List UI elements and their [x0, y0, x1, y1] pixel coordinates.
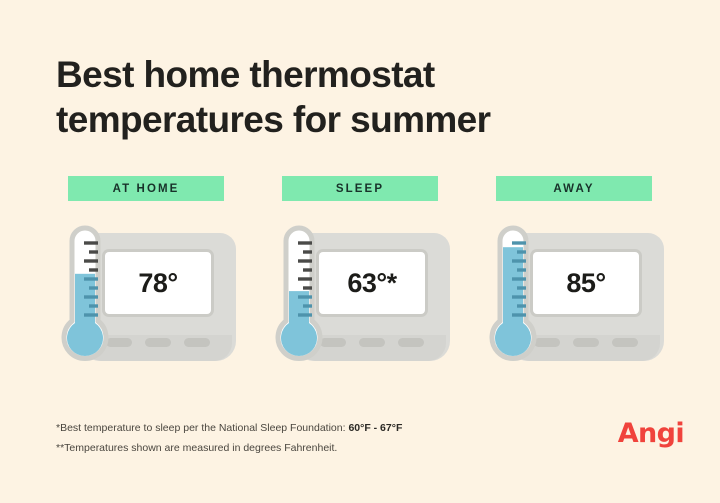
- thermometer-icon: [56, 225, 114, 373]
- temperature-value: 63°*: [347, 270, 396, 297]
- footnote-units: **Temperatures shown are measured in deg…: [56, 438, 556, 458]
- thermostat-buttons: [106, 338, 210, 347]
- thermostat-buttons: [320, 338, 424, 347]
- thermostat-unit-at-home: 78°: [48, 225, 244, 373]
- thermostat-unit-away: 85°: [476, 225, 672, 373]
- temperature-value: 85°: [566, 270, 605, 297]
- column-at-home: AT HOME 78°: [48, 176, 244, 373]
- thermostat-screen: 85°: [533, 252, 639, 314]
- angi-logo[interactable]: Angi: [618, 420, 684, 447]
- thermostat-button-3[interactable]: [612, 338, 638, 347]
- thermostat-buttons: [534, 338, 638, 347]
- thermostat-columns: AT HOME 78°: [48, 176, 672, 373]
- thermostat-button-2[interactable]: [359, 338, 385, 347]
- column-away: AWAY 85°: [476, 176, 672, 373]
- thermostat-screen-frame: 85°: [530, 249, 642, 317]
- thermostat-unit-sleep: 63°*: [262, 225, 458, 373]
- badge-sleep: SLEEP: [282, 176, 438, 201]
- footnote-sleep-text: *Best temperature to sleep per the Natio…: [56, 422, 346, 434]
- footnotes: *Best temperature to sleep per the Natio…: [56, 418, 556, 459]
- thermostat-button-2[interactable]: [573, 338, 599, 347]
- column-sleep: SLEEP 63°*: [262, 176, 458, 373]
- temperature-value: 78°: [138, 270, 177, 297]
- page-title: Best home thermostat temperatures for su…: [56, 52, 616, 142]
- badge-away: AWAY: [496, 176, 652, 201]
- thermostat-screen: 63°*: [319, 252, 425, 314]
- badge-at-home: AT HOME: [68, 176, 224, 201]
- thermostat-button-2[interactable]: [145, 338, 171, 347]
- footnote-sleep: *Best temperature to sleep per the Natio…: [56, 418, 556, 438]
- thermostat-screen-frame: 78°: [102, 249, 214, 317]
- thermostat-button-3[interactable]: [398, 338, 424, 347]
- thermometer-icon: [484, 225, 542, 373]
- thermostat-screen: 78°: [105, 252, 211, 314]
- thermostat-screen-frame: 63°*: [316, 249, 428, 317]
- footnote-sleep-range: 60°F - 67°F: [348, 422, 402, 434]
- thermostat-button-3[interactable]: [184, 338, 210, 347]
- infographic-root: Best home thermostat temperatures for su…: [0, 0, 720, 503]
- thermometer-icon: [270, 225, 328, 373]
